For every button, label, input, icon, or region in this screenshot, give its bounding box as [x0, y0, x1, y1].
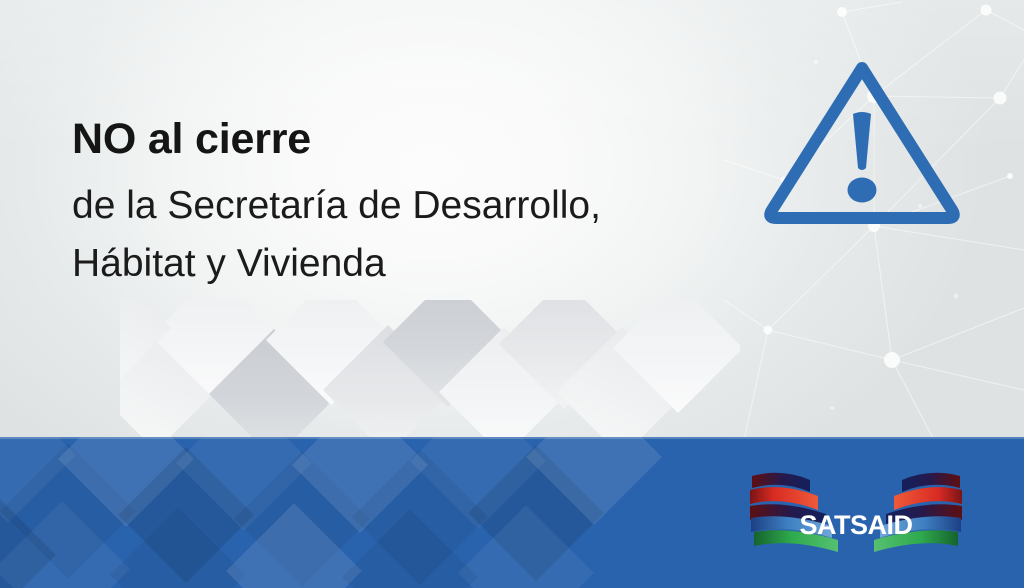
- headline-primary: NO al cierre: [72, 118, 772, 161]
- headline-secondary-line-1: de la Secretaría de Desarrollo,: [72, 177, 772, 235]
- poster-canvas: NO al cierre de la Secretaría de Desarro…: [0, 0, 1024, 588]
- satsaid-wordmark: SATSAID: [799, 510, 912, 540]
- satsaid-logo: SATSAID: [748, 466, 964, 558]
- headline-secondary-line-2: Hábitat y Vivienda: [72, 235, 772, 293]
- grey-diamond-pattern: [120, 300, 740, 442]
- headline-block: NO al cierre de la Secretaría de Desarro…: [72, 118, 772, 292]
- warning-triangle-exclamation-icon: [756, 52, 968, 228]
